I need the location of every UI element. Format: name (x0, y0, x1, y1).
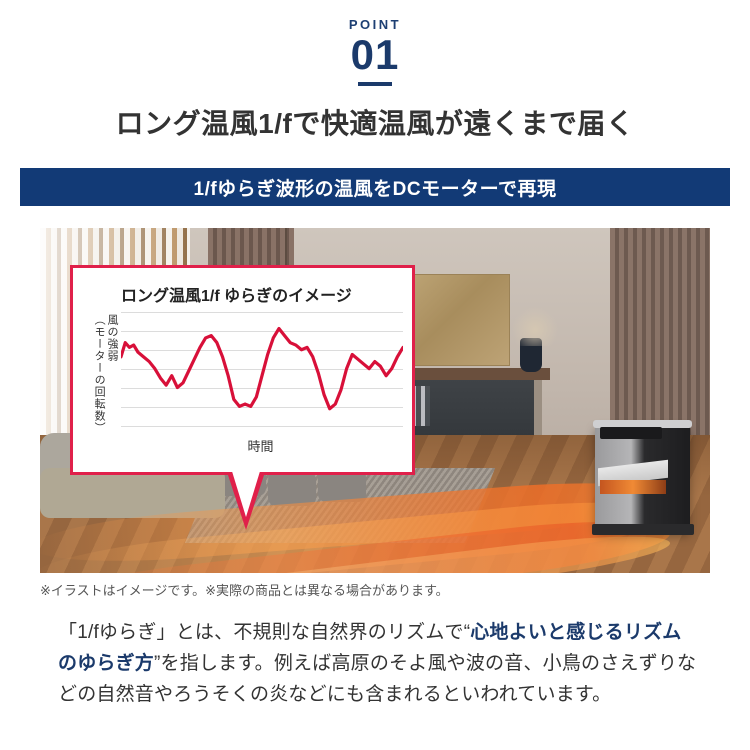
dried-flowers-icon (505, 306, 565, 346)
callout-pointer-inner (231, 468, 261, 517)
chart-y-axis-label: 風の強弱 （モーターの回転数） (83, 314, 117, 434)
section-banner: 1/fゆらぎ波形の温風をDCモーターで再現 (20, 168, 730, 206)
heater-flame-window (600, 480, 666, 494)
description-paragraph: 「1/fゆらぎ」とは、不規則な自然界のリズムで“心地よいと感じるリズムのゆらぎ方… (58, 618, 698, 710)
chart-title: ロング温風1/f ゆらぎのイメージ (73, 268, 412, 314)
point-block: POINT 01 (0, 0, 750, 86)
chart-plot-area (121, 312, 403, 430)
description-part-2: ”を指します。例えば高原のそよ風や波の音、小鳥のさえずりなどの自然音やろうそくの… (58, 653, 696, 705)
heater-base (592, 524, 694, 535)
chart-x-axis-label: 時間 (73, 436, 412, 455)
fluctuation-waveform (121, 312, 403, 430)
chart-y-axis-label-main: 風の強弱 (105, 314, 117, 434)
footnote-text: ※イラストはイメージです。※実際の商品とは異なる場合があります。 (40, 580, 449, 599)
section-banner-text: 1/fゆらぎ波形の温風をDCモーターで再現 (194, 174, 557, 201)
point-number: 01 (0, 33, 750, 77)
description-part-1: 「1/fゆらぎ」とは、不規則な自然界のリズムで“ (58, 622, 470, 643)
sofa-seat (40, 468, 225, 518)
chart-callout-card: ロング温風1/f ゆらぎのイメージ 風の強弱 （モーターの回転数） 時間 (70, 265, 415, 475)
point-label: POINT (0, 18, 750, 31)
page-title: ロング温風1/fで快適温風が遠くまで届く (0, 102, 750, 142)
heater-control-panel (600, 427, 662, 439)
chart-y-axis-label-sub: （モーターの回転数） (92, 314, 104, 434)
point-underline-bar (358, 82, 392, 86)
